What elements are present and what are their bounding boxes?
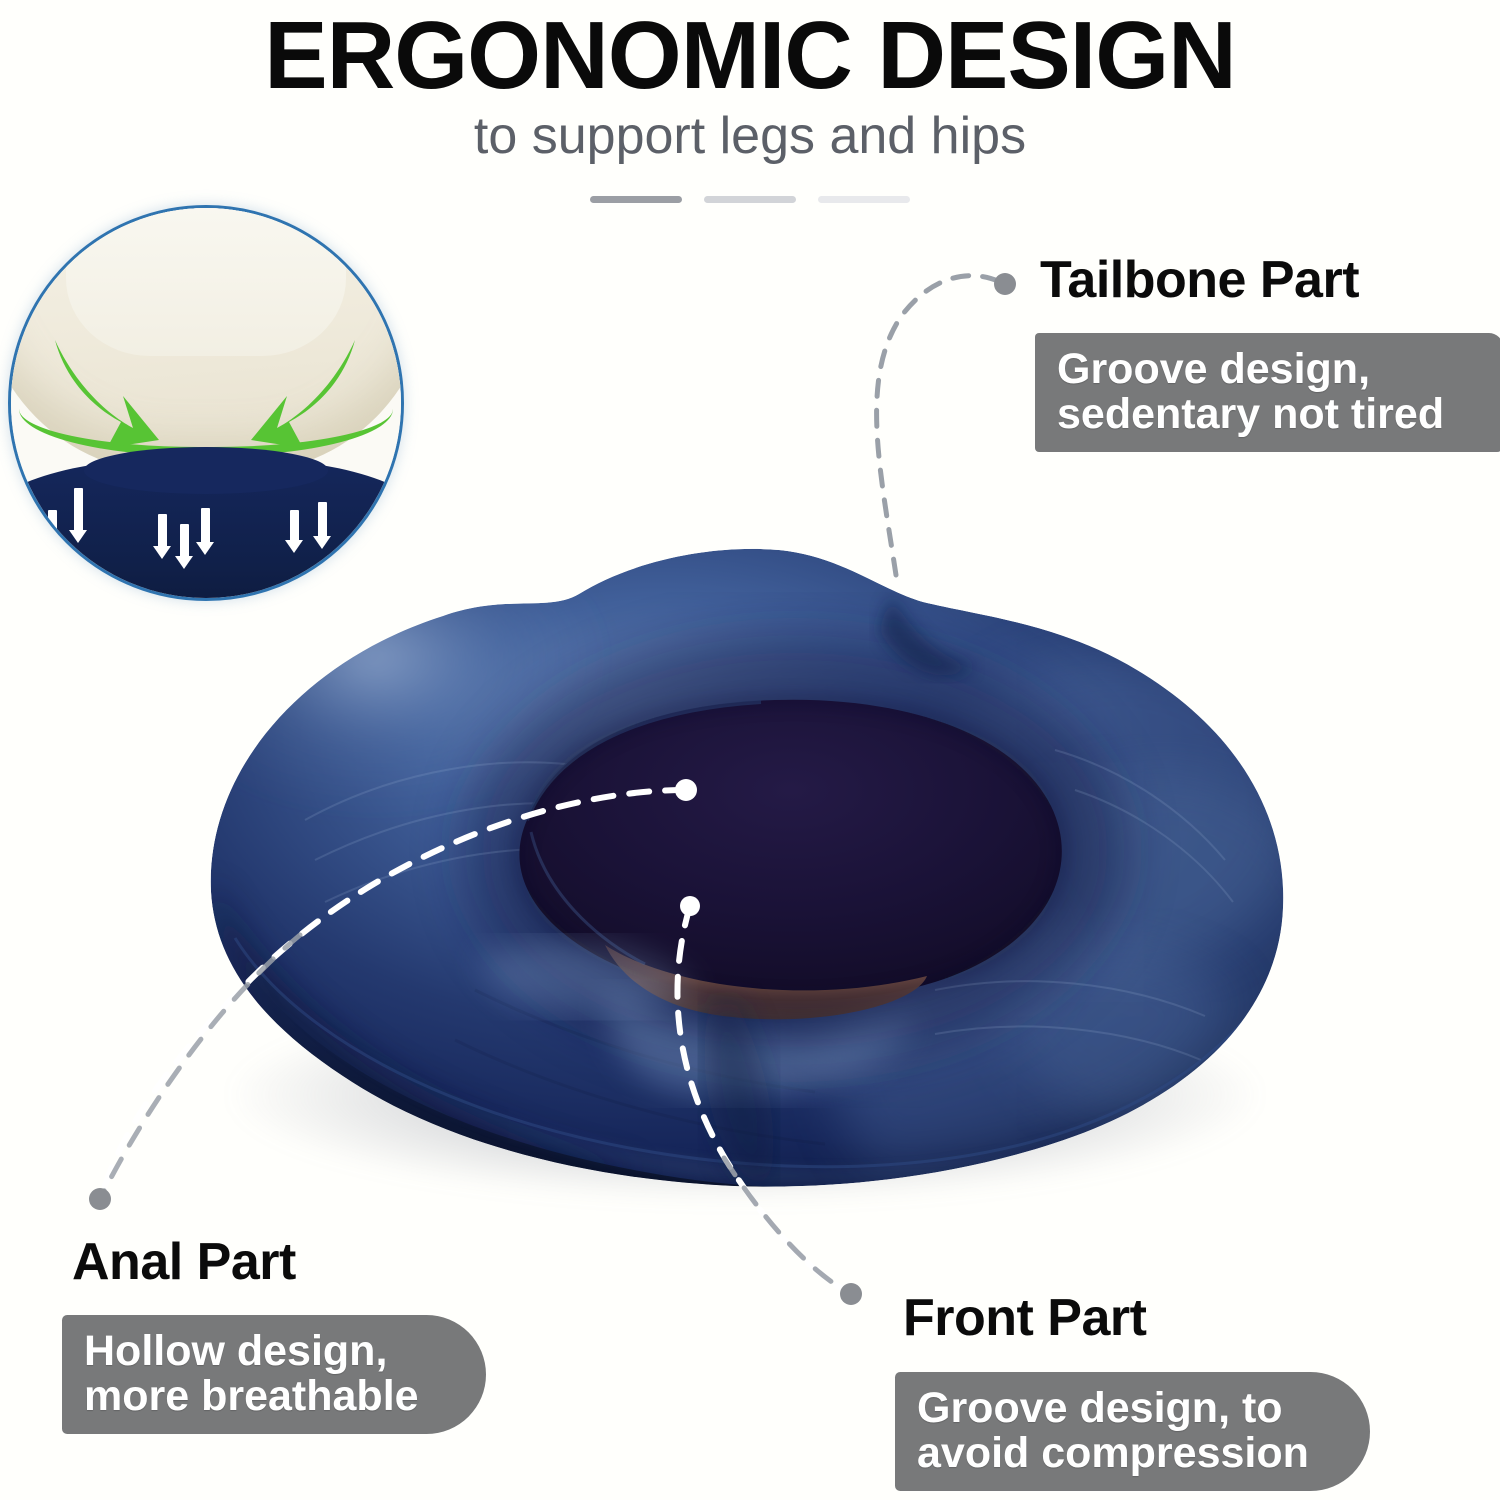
callout-body-front: Groove design, to avoid compression	[895, 1372, 1370, 1491]
white-down-arrow-icon	[48, 510, 57, 544]
product-image-donut-cushion	[175, 520, 1315, 1220]
callout-body-anal: Hollow design, more breathable	[62, 1315, 486, 1434]
callout-title-anal: Anal Part	[72, 1232, 296, 1292]
white-down-arrow-icon	[74, 488, 83, 532]
dash-mid-icon	[704, 196, 796, 203]
donut-cushion-illustration	[175, 520, 1315, 1220]
white-down-arrow-icon	[158, 514, 167, 548]
anal-leader-dot	[89, 1188, 111, 1210]
inset-cream-body-top	[66, 205, 347, 356]
front-leader-dot	[840, 1283, 862, 1305]
green-down-arrow-icon	[51, 336, 171, 456]
infographic-canvas: ERGONOMIC DESIGN to support legs and hip…	[0, 0, 1500, 1500]
page-subtitle: to support legs and hips	[0, 108, 1500, 165]
dash-dark-icon	[590, 196, 682, 203]
callout-title-front: Front Part	[903, 1288, 1146, 1348]
green-down-arrow-icon	[239, 336, 359, 456]
tailbone-leader-dot	[994, 273, 1016, 295]
page-title: ERGONOMIC DESIGN	[8, 6, 1493, 107]
callout-body-tailbone: Groove design, sedentary not tired	[1035, 333, 1500, 452]
dash-light-icon	[818, 196, 910, 203]
white-down-arrow-icon	[22, 492, 31, 532]
decorative-dash-row	[0, 196, 1500, 203]
callout-title-tailbone: Tailbone Part	[1040, 250, 1359, 310]
